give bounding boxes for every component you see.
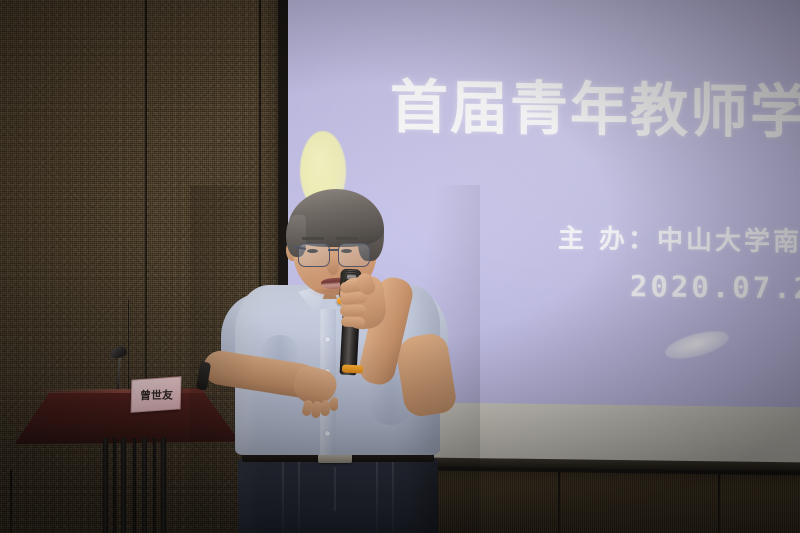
scene-vignette bbox=[0, 0, 800, 533]
presentation-photo: 首届青年教师学 主 办：中山大学南方 2020.07.26 曾世友 bbox=[0, 0, 800, 533]
